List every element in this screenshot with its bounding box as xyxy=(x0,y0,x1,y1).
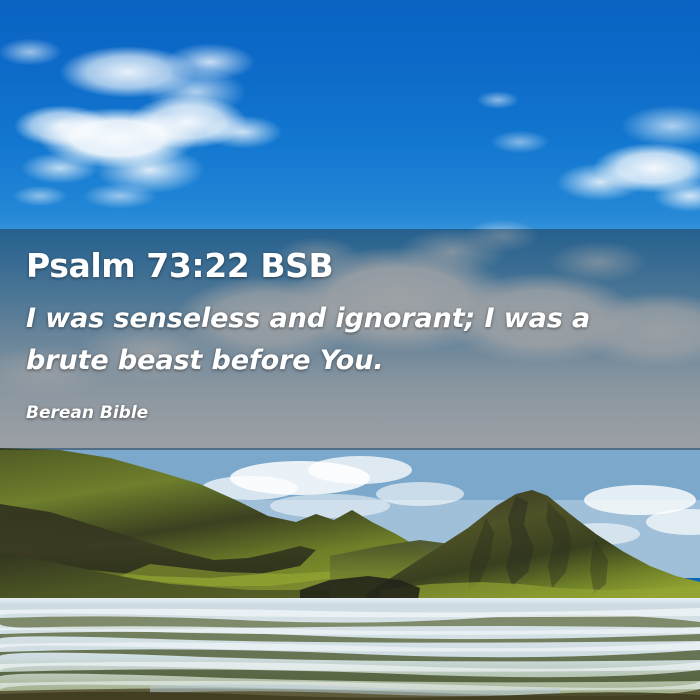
landscape-illustration xyxy=(0,448,700,700)
verse-text-block: Psalm 73:22 BSB I was senseless and igno… xyxy=(0,229,700,450)
landscape xyxy=(0,448,700,700)
verse-body-text: I was senseless and ignorant; I was a br… xyxy=(26,298,666,382)
verse-attribution: Berean Bible xyxy=(26,402,674,424)
verse-reference: Psalm 73:22 BSB xyxy=(26,247,674,285)
verse-image-card: Psalm 73:22 BSB I was senseless and igno… xyxy=(0,0,700,700)
